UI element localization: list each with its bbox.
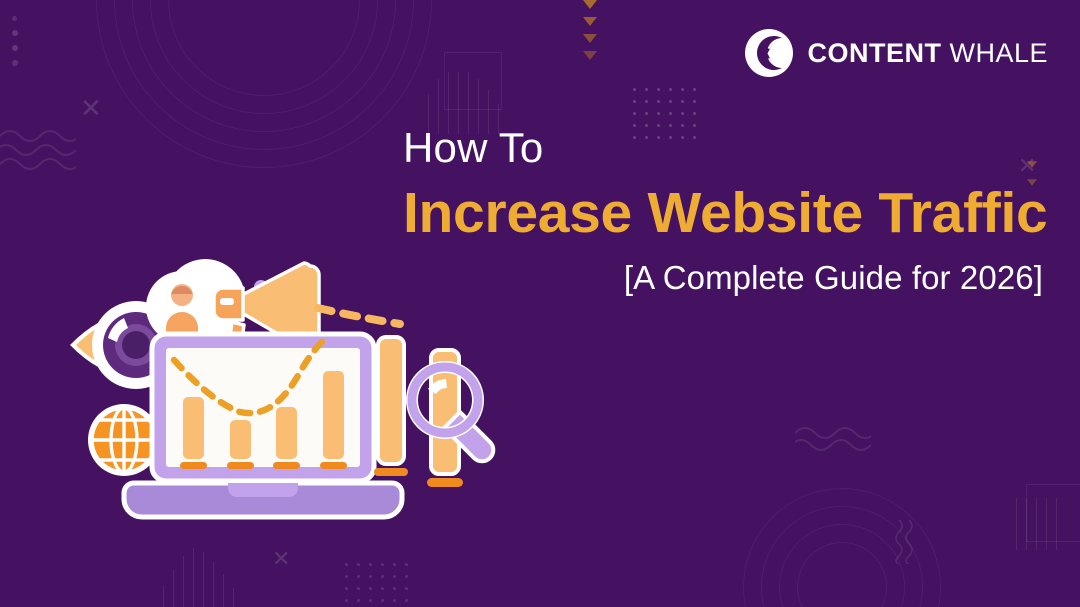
logo-word-content: CONTENT — [807, 38, 941, 68]
dot-column — [12, 16, 18, 75]
x-mark-top-left: ✕ — [80, 95, 102, 121]
concentric-ring-br-1 — [797, 542, 887, 607]
dot-grid-bottom-mid — [345, 563, 408, 602]
line-fan-bottom-left — [163, 548, 243, 607]
website-traffic-analytics-illustration — [62, 252, 512, 537]
line-fan-bottom-right — [1016, 498, 1066, 550]
concentric-ring-3 — [132, 0, 396, 132]
banner: ✕ ✕ ✕ — [0, 0, 1080, 607]
logo-word-whale: WHALE — [949, 38, 1048, 68]
triangle-marker-1 — [583, 0, 597, 9]
concentric-ring-br-3 — [761, 506, 923, 607]
concentric-ring-5 — [96, 0, 432, 168]
dashed-trail-right — [318, 308, 400, 324]
concentric-ring-2 — [150, 0, 378, 114]
triangle-marker-3 — [583, 34, 597, 43]
outer-bar-tall — [374, 337, 408, 476]
concentric-ring-br-2 — [779, 524, 905, 607]
globe-icon — [88, 404, 160, 476]
triangle-marker-4 — [583, 51, 597, 60]
logo-wordmark: CONTENT WHALE — [807, 38, 1048, 69]
brand-logo[interactable]: CONTENT WHALE — [744, 28, 1048, 78]
content-whale-logo-mark — [744, 28, 794, 78]
headline-line-2: Increase Website Traffic — [403, 182, 1043, 246]
headline-line-1: How To — [403, 126, 1043, 170]
square-outline-top — [444, 52, 502, 110]
concentric-ring-br-4 — [743, 488, 941, 607]
vertical-squiggle — [895, 520, 917, 564]
concentric-ring-4 — [114, 0, 414, 150]
laptop-bar-chart — [124, 334, 402, 517]
wave-lines-bottom-right — [795, 425, 871, 455]
triangle-marker-2 — [583, 17, 597, 26]
wave-lines-top-left — [0, 128, 76, 170]
x-mark-bottom-left: ✕ — [272, 548, 290, 570]
concentric-ring-1 — [168, 0, 360, 96]
square-outline-bottom-right — [1026, 484, 1080, 542]
magnifier-icon — [412, 350, 493, 487]
